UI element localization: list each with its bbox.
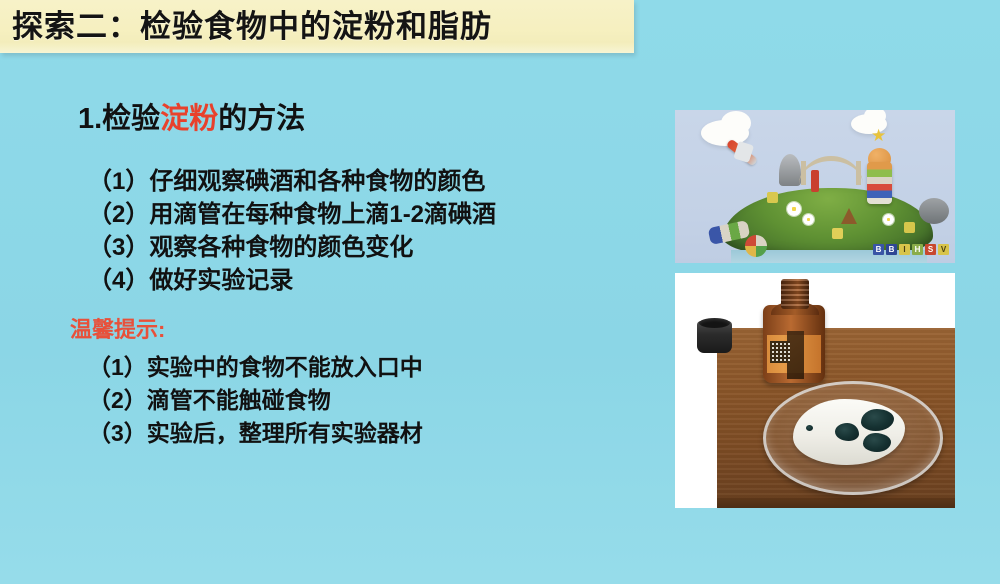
toy-world-image: B B I H S V [675,110,955,263]
iodine-stain [863,433,891,452]
slide-root: 探索二：检验食物中的淀粉和脂肪 1.检验淀粉的方法 （1）仔细观察碘酒和各种食物… [0,0,1000,584]
flower-icon [787,202,801,216]
watermark: B B I H S V [873,244,949,255]
page-title: 探索二：检验食物中的淀粉和脂肪 [12,11,492,42]
red-bar-shape [811,170,819,192]
list-item: （3）实验后，整理所有实验器材 [88,417,423,450]
block-shape [767,192,778,203]
title-banner: 探索二：检验食物中的淀粉和脂肪 [0,0,634,53]
gray-blob-shape [919,198,949,224]
iodine-test-image [675,273,955,508]
watermark-letter: H [912,244,923,255]
ball-toy [745,235,767,257]
watermark-letter: V [938,244,949,255]
watermark-letter: S [925,244,936,255]
watermark-letter: B [873,244,884,255]
watermark-letter: I [899,244,910,255]
heading-prefix: 1.检验 [78,103,160,135]
content-area: 1.检验淀粉的方法 （1）仔细观察碘酒和各种食物的颜色 （2）用滴管在每种食物上… [0,53,660,584]
striped-tower [867,162,892,204]
bottle-cap [697,321,732,353]
dome-shape [779,154,801,186]
section-heading: 1.检验淀粉的方法 [78,105,305,134]
bottle-label-grid [770,341,790,363]
block-shape [904,222,915,233]
photo-white-margin [675,273,717,508]
heading-highlight: 淀粉 [160,103,218,135]
pinecone-shape [841,208,857,224]
list-item: （1）仔细观察碘酒和各种食物的颜色 [88,165,496,198]
method-step-list: （1）仔细观察碘酒和各种食物的颜色 （2）用滴管在每种食物上滴1-2滴碘酒 （3… [88,165,496,297]
list-item: （2）用滴管在每种食物上滴1-2滴碘酒 [88,198,496,231]
picture-column: B B I H S V [675,110,955,508]
list-item: （2）滴管不能触碰食物 [88,384,423,417]
watermark-letter: B [886,244,897,255]
flower-icon [803,214,814,225]
block-shape [832,228,843,239]
flower-icon [883,214,894,225]
iodine-stain [835,423,859,441]
tips-heading: 温馨提示: [70,319,165,341]
list-item: （3）观察各种食物的颜色变化 [88,231,496,264]
iodine-stain [806,425,813,431]
heading-suffix: 的方法 [218,103,305,135]
list-item: （1）实验中的食物不能放入口中 [88,351,423,384]
tips-list: （1）实验中的食物不能放入口中 （2）滴管不能触碰食物 （3）实验后，整理所有实… [88,351,423,450]
bottle-neck [781,279,809,309]
list-item: （4）做好实验记录 [88,264,496,297]
